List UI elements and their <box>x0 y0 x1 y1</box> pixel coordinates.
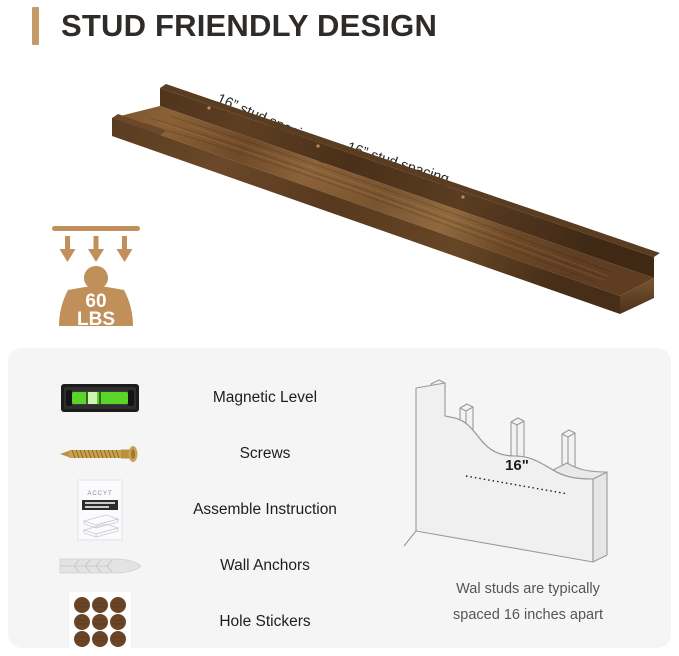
wall-studs-diagram: 16" <box>403 366 653 581</box>
magnetic-level-icon <box>52 381 148 415</box>
list-item-label: Magnetic Level <box>148 389 382 407</box>
shelf-bar-icon <box>52 226 140 231</box>
measurement-label: 16" <box>505 457 529 474</box>
weight-capacity-badge: 60 LBS <box>44 222 148 334</box>
hole-sticker-icon <box>52 591 148 653</box>
page-title: STUD FRIENDLY DESIGN <box>61 8 437 44</box>
studs-caption-line2: spaced 16 inches apart <box>403 602 653 628</box>
list-item-label: Wall Anchors <box>148 557 382 575</box>
list-item: Screws <box>52 426 382 482</box>
mount-point <box>461 195 464 198</box>
list-item: Hole Stickers <box>52 594 382 650</box>
accessories-card: Magnetic Level <box>8 348 671 648</box>
shelf-object <box>112 84 660 314</box>
shelf-top-surface <box>112 106 654 296</box>
list-item-label: Hole Stickers <box>148 613 382 631</box>
wall-anchor-icon <box>52 553 148 579</box>
list-item: ACCYT Assemble Instruction <box>52 482 382 538</box>
shelf-lip-face <box>160 88 654 278</box>
weight-unit: LBS <box>77 309 115 330</box>
list-item: Magnetic Level <box>52 370 382 426</box>
studs-caption: Wal studs are typically spaced 16 inches… <box>403 576 653 628</box>
studs-caption-line1: Wal studs are typically <box>403 576 653 602</box>
list-item: Wall Anchors <box>52 538 382 594</box>
svg-text:ACCYT: ACCYT <box>87 491 112 497</box>
list-item-label: Screws <box>148 445 382 463</box>
mount-point <box>207 106 210 109</box>
page-title-bar: STUD FRIENDLY DESIGN <box>0 0 679 52</box>
title-accent-bar <box>32 7 39 45</box>
list-item-label: Assemble Instruction <box>148 501 382 519</box>
accessories-list: Magnetic Level <box>52 370 382 650</box>
mount-point <box>316 144 319 147</box>
screw-icon <box>52 443 148 465</box>
instruction-booklet-icon: ACCYT <box>52 479 148 541</box>
downward-arrows-icon <box>60 236 133 262</box>
